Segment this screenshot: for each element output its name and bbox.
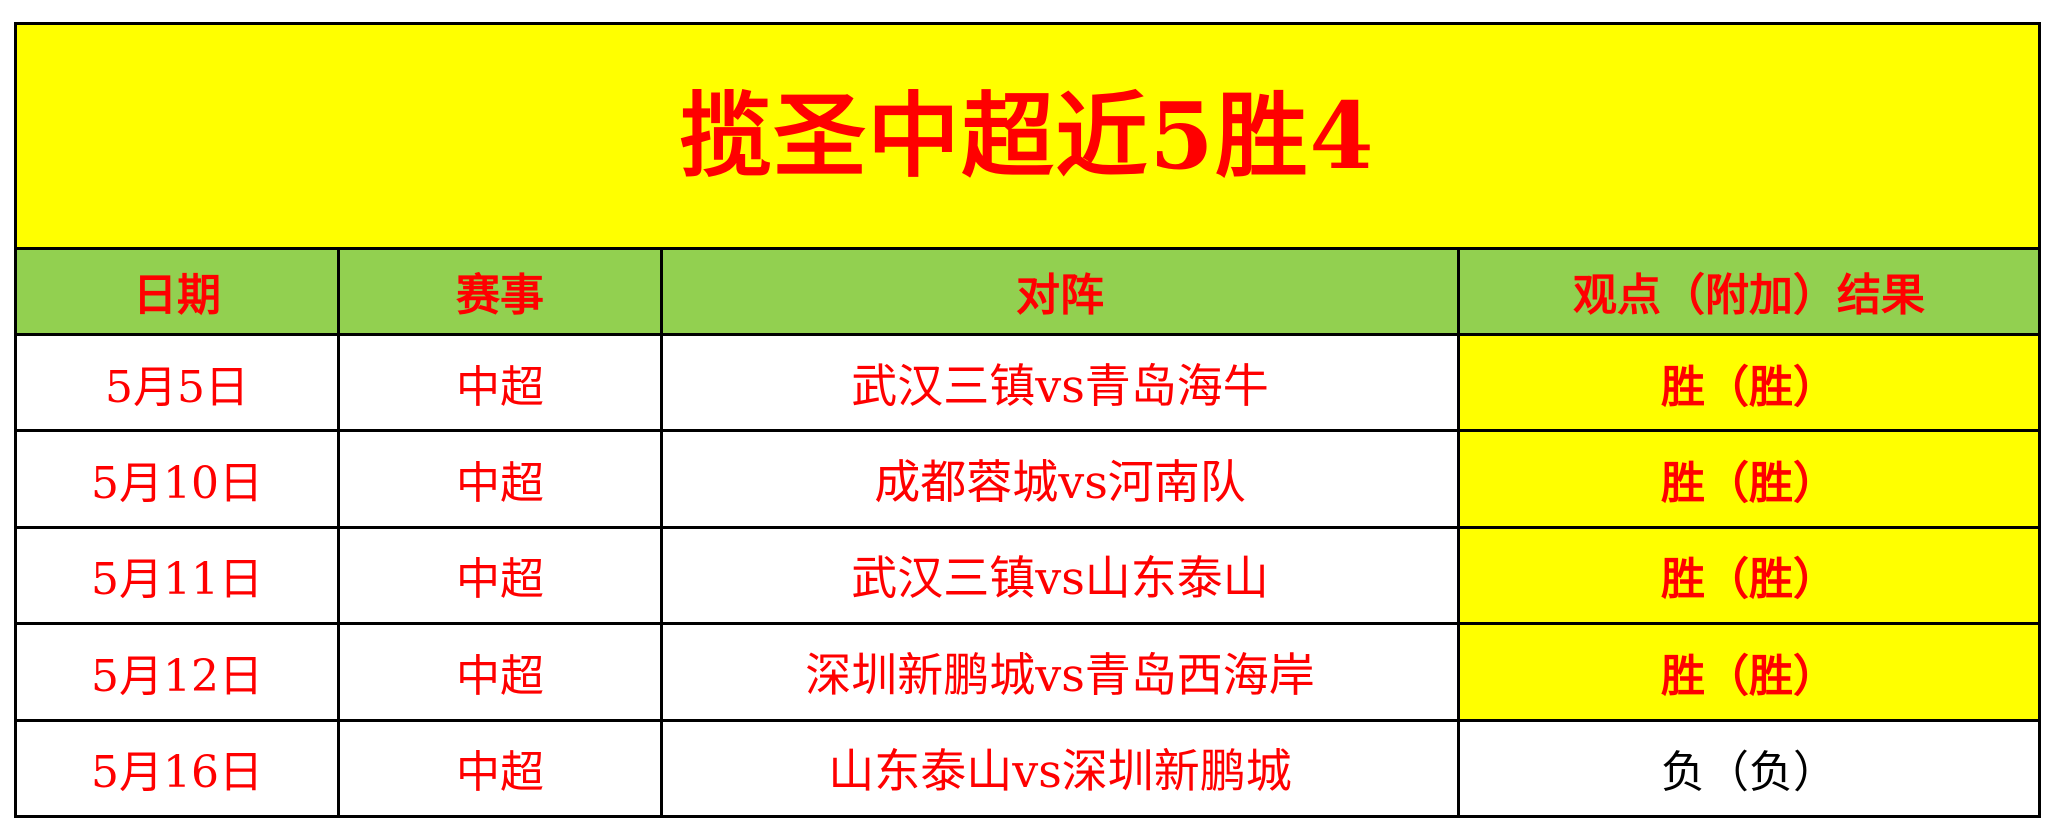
column-header-date: 日期 — [16, 248, 339, 334]
title-row: 揽圣中超近5胜4 — [16, 24, 2040, 249]
cell-competition: 中超 — [339, 527, 662, 623]
cell-matchup: 成都蓉城vs河南队 — [662, 431, 1459, 527]
table-row: 5月16日 中超 山东泰山vs深圳新鹏城 负（负） — [16, 720, 2040, 816]
cell-date: 5月5日 — [16, 334, 339, 430]
table-body: 揽圣中超近5胜4 日期 赛事 对阵 观点（附加）结果 5月5日 中超 武汉三镇v… — [16, 24, 2040, 817]
column-header-competition: 赛事 — [339, 248, 662, 334]
results-sheet: 揽圣中超近5胜4 日期 赛事 对阵 观点（附加）结果 5月5日 中超 武汉三镇v… — [14, 22, 2038, 818]
column-header-result: 观点（附加）结果 — [1459, 248, 2040, 334]
table-row: 5月11日 中超 武汉三镇vs山东泰山 胜（胜） — [16, 527, 2040, 623]
cell-competition: 中超 — [339, 334, 662, 430]
cell-result: 胜（胜） — [1459, 334, 2040, 430]
cell-result: 胜（胜） — [1459, 624, 2040, 720]
cell-date: 5月12日 — [16, 624, 339, 720]
header-row: 日期 赛事 对阵 观点（附加）结果 — [16, 248, 2040, 334]
cell-matchup: 山东泰山vs深圳新鹏城 — [662, 720, 1459, 816]
table-row: 5月5日 中超 武汉三镇vs青岛海牛 胜（胜） — [16, 334, 2040, 430]
match-results-table: 揽圣中超近5胜4 日期 赛事 对阵 观点（附加）结果 5月5日 中超 武汉三镇v… — [14, 22, 2041, 818]
table-row: 5月12日 中超 深圳新鹏城vs青岛西海岸 胜（胜） — [16, 624, 2040, 720]
table-row: 5月10日 中超 成都蓉城vs河南队 胜（胜） — [16, 431, 2040, 527]
cell-competition: 中超 — [339, 720, 662, 816]
cell-result: 负（负） — [1459, 720, 2040, 816]
cell-date: 5月10日 — [16, 431, 339, 527]
page-title: 揽圣中超近5胜4 — [16, 24, 2040, 249]
cell-matchup: 武汉三镇vs青岛海牛 — [662, 334, 1459, 430]
column-header-matchup: 对阵 — [662, 248, 1459, 334]
cell-date: 5月11日 — [16, 527, 339, 623]
cell-date: 5月16日 — [16, 720, 339, 816]
cell-competition: 中超 — [339, 431, 662, 527]
cell-competition: 中超 — [339, 624, 662, 720]
cell-matchup: 深圳新鹏城vs青岛西海岸 — [662, 624, 1459, 720]
cell-matchup: 武汉三镇vs山东泰山 — [662, 527, 1459, 623]
cell-result: 胜（胜） — [1459, 431, 2040, 527]
cell-result: 胜（胜） — [1459, 527, 2040, 623]
